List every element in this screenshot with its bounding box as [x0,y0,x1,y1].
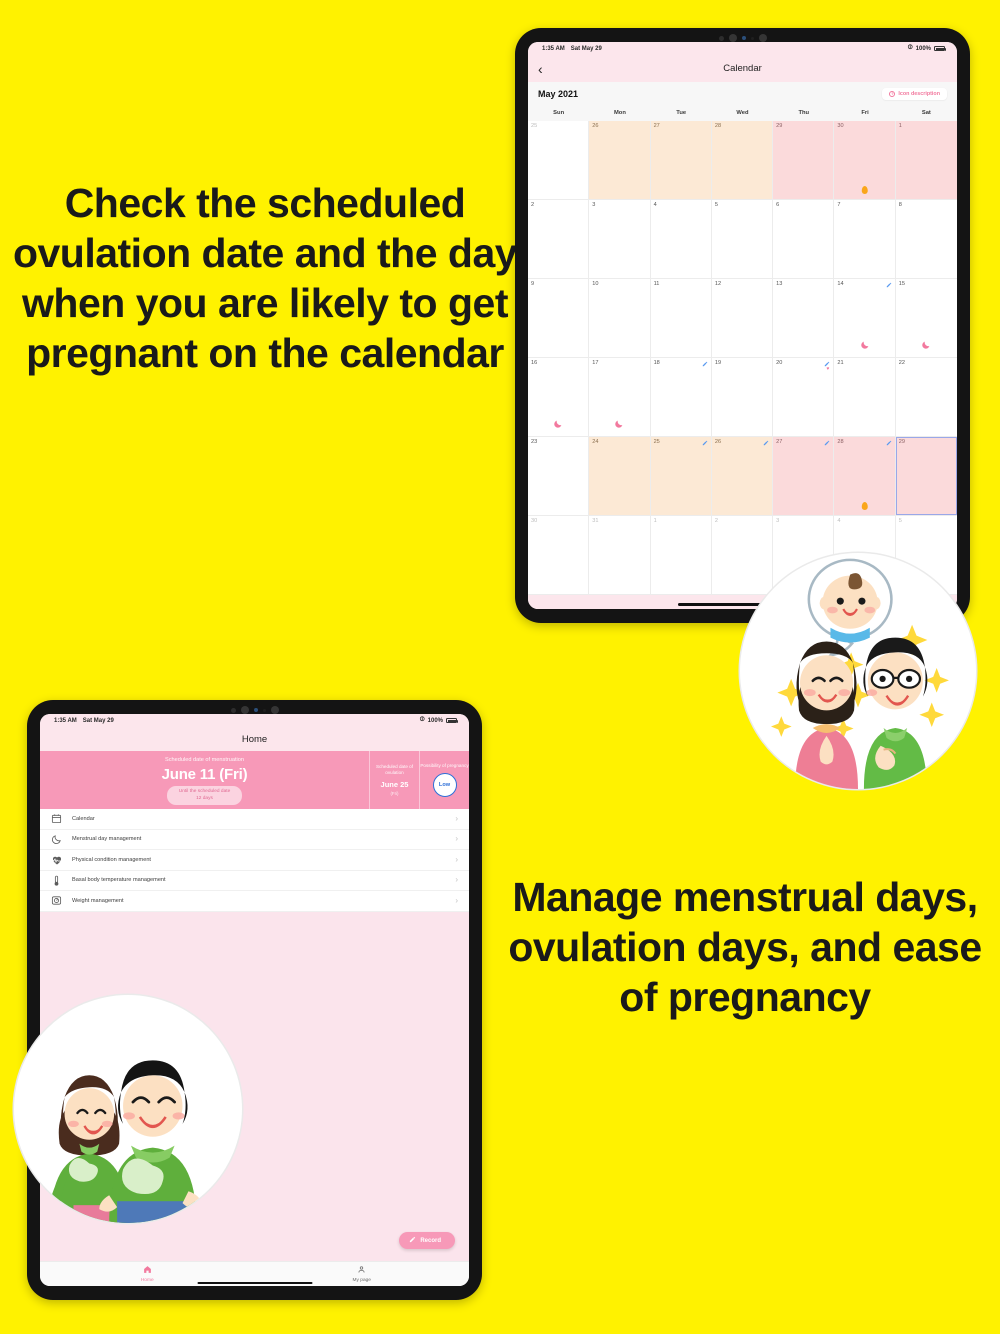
dow-sun: Sun [528,106,589,121]
calendar-day-number: 16 [531,360,537,366]
pencil-icon [702,440,708,446]
calendar-day-cell[interactable]: 19 [712,358,773,437]
calendar-title: Calendar [528,63,957,74]
calendar-day-cell[interactable]: 29 [896,437,957,516]
calendar-day-number: 29 [899,439,905,445]
calendar-day-cell[interactable]: 25 [651,437,712,516]
calendar-day-number: 25 [654,439,660,445]
calendar-day-number: 21 [837,360,843,366]
calendar-day-number: 2 [531,202,534,208]
calendar-day-number: 20 [776,360,782,366]
home-title: Home [242,734,267,745]
pencil-icon [824,440,830,446]
status-battery-percent: 100% [428,718,443,724]
tablet-device-calendar: 1:35 AM Sat May 29 ⏼ 100% ‹ Calendar May… [515,28,970,623]
dow-tue: Tue [651,106,712,121]
hero-pregnancy-block: Possibility of pregnancy Low [419,751,469,809]
calendar-day-cell[interactable]: 27 [651,121,712,200]
calendar-day-number: 26 [592,123,598,129]
calendar-day-number: 7 [837,202,840,208]
headline-top: Check the scheduled ovulation date and t… [10,178,520,378]
calendar-day-cell[interactable]: 22 [896,358,957,437]
status-bar: 1:35 AM Sat May 29 ⏼ 100% [40,714,469,727]
calendar-day-cell[interactable]: 29 [773,121,834,200]
calendar-day-number: 22 [899,360,905,366]
front-camera-cluster [719,34,767,42]
calendar-day-cell[interactable]: 2 [712,516,773,595]
calendar-day-cell[interactable]: 26 [712,437,773,516]
dow-thu: Thu [773,106,834,121]
calendar-day-cell[interactable]: 1 [651,516,712,595]
calendar-day-number: 24 [592,439,598,445]
battery-icon [934,46,945,52]
calendar-day-cell[interactable]: 28 [712,121,773,200]
calendar-day-number: 30 [531,518,537,524]
status-time: 1:35 AM [54,718,77,724]
calendar-day-number: 31 [592,518,598,524]
calendar-day-cell[interactable]: 1 [896,121,957,200]
moon-icon [50,833,63,846]
calendar-day-number: 3 [776,518,779,524]
couple-dreaming-of-baby-illustration [740,553,976,789]
menu-item-label: Menstrual day management [72,836,141,842]
calendar-day-number: 4 [837,518,840,524]
calendar-day-number: 2 [715,518,718,524]
calendar-day-cell[interactable]: 13 [773,279,834,358]
calendar-day-number: 3 [592,202,595,208]
calendar-day-number: 23 [531,439,537,445]
calendar-day-cell[interactable]: 12 [712,279,773,358]
home-icon [143,1265,152,1276]
countdown-line1: Until the scheduled date [179,789,230,796]
hero-banner: Scheduled date of menstruation June 11 (… [40,751,469,809]
tab-home-label: Home [141,1278,154,1283]
calendar-day-number: 17 [592,360,598,366]
dow-fri: Fri [834,106,895,121]
pencil-icon [886,282,892,288]
calendar-day-number: 19 [715,360,721,366]
calendar-day-cell[interactable]: 30 [528,516,589,595]
hero-menstruation-block: Scheduled date of menstruation June 11 (… [40,751,369,809]
calendar-day-cell[interactable]: 6 [773,200,834,279]
calendar-day-number: 10 [592,281,598,287]
person-icon [357,1265,366,1276]
bottom-tab-bar: Home My page [40,1261,469,1286]
home-indicator[interactable] [197,1282,312,1285]
moon-icon [860,340,870,353]
tab-my-page-label: My page [353,1278,371,1283]
hero-ovulation-block: Scheduled date of ovulation June 25 (Fri… [369,751,419,809]
calendar-day-number: 6 [776,202,779,208]
wifi-icon: ⏼ [908,45,913,52]
chevron-right-icon: › [455,835,458,843]
menu-item-basal-body-temperature-management[interactable]: Basal body temperature management› [40,871,469,892]
calendar-day-cell[interactable]: 10 [589,279,650,358]
chevron-right-icon: › [455,856,458,864]
calendar-day-cell[interactable]: 31 [589,516,650,595]
ovulation-egg-icon [861,186,868,195]
calendar-grid: 2526272829301234567891011121314151617181… [528,121,957,595]
calendar-day-cell[interactable]: 7 [834,200,895,279]
calendar-day-number: 1 [899,123,902,129]
calendar-day-cell[interactable]: 23 [528,437,589,516]
calendar-day-number: 1 [654,518,657,524]
month-label: May 2021 [538,89,578,99]
calendar-day-cell[interactable]: 21 [834,358,895,437]
ovulation-egg-icon [861,502,868,511]
calendar-day-number: 5 [715,202,718,208]
calendar-day-number: 12 [715,281,721,287]
calendar-day-number: 13 [776,281,782,287]
home-navbar: Home [40,727,469,751]
calendar-day-number: 9 [531,281,534,287]
ovulation-label: Scheduled date of ovulation [370,764,419,776]
calendar-day-cell[interactable]: 26 [589,121,650,200]
calendar-day-number: 4 [654,202,657,208]
calendar-day-cell[interactable]: 30 [834,121,895,200]
calendar-day-number: 5 [899,518,902,524]
calendar-day-cell[interactable]: 9 [528,279,589,358]
moon-icon [921,340,931,353]
calendar-day-number: 26 [715,439,721,445]
menu-item-physical-condition-management[interactable]: Physical condition management› [40,850,469,871]
calendar-day-number: 29 [776,123,782,129]
calendar-day-cell[interactable]: 17 [589,358,650,437]
calendar-day-cell[interactable]: 5 [712,200,773,279]
chevron-right-icon: › [455,897,458,905]
pencil-icon [702,361,708,367]
status-battery-percent: 100% [916,46,931,52]
pencil-icon [409,1236,416,1245]
calendar-day-cell[interactable]: 14 [834,279,895,358]
status-bar: 1:35 AM Sat May 29 ⏼ 100% [528,42,957,55]
calendar-day-cell[interactable]: 3 [589,200,650,279]
battery-icon [446,718,457,724]
calendar-day-cell[interactable]: 25 [528,121,589,200]
calendar-day-cell[interactable]: 4 [651,200,712,279]
calendar-day-cell[interactable]: 16 [528,358,589,437]
menu-item-label: Weight management [72,898,124,904]
countdown-pill: Until the scheduled date 12 days [167,786,242,805]
calendar-day-number: 30 [837,123,843,129]
calendar-day-number: 14 [837,281,843,287]
dow-sat: Sat [896,106,957,121]
calendar-day-cell[interactable]: 24 [589,437,650,516]
calendar-day-cell[interactable]: 18 [651,358,712,437]
calendar-day-number: 27 [654,123,660,129]
calendar-day-cell[interactable]: 20♥ [773,358,834,437]
menu-item-menstrual-day-management[interactable]: Menstrual day management› [40,830,469,851]
day-of-week-header: Sun Mon Tue Wed Thu Fri Sat [528,106,957,121]
menu-item-calendar[interactable]: Calendar› [40,809,469,830]
calendar-day-number: 8 [899,202,902,208]
record-label: Record [420,1238,441,1244]
calendar-day-cell[interactable]: 2 [528,200,589,279]
calendar-day-cell[interactable]: 15 [896,279,957,358]
pencil-icon [763,440,769,446]
menstruation-date: June 11 (Fri) [162,766,248,783]
menu-item-label: Physical condition management [72,857,151,863]
calendar-day-cell[interactable]: 8 [896,200,957,279]
calendar-day-number: 27 [776,439,782,445]
heart-icon: ♥ [826,367,829,372]
icon-description-button[interactable]: ? Icon description [882,88,947,100]
calendar-navbar: ‹ Calendar [528,55,957,82]
pregnancy-possibility-badge: Low [433,773,457,797]
record-button[interactable]: Record [399,1232,455,1249]
ovulation-date: June 25 [381,780,409,789]
status-date: Sat May 29 [83,718,114,724]
headline-bottom: Manage menstrual days, ovulation days, a… [500,872,990,1022]
calendar-day-number: 28 [837,439,843,445]
wifi-icon: ⏼ [420,717,425,724]
dow-wed: Wed [712,106,773,121]
calendar-day-number: 25 [531,123,537,129]
status-time: 1:35 AM [542,46,565,52]
happy-couple-illustration [14,995,242,1223]
calendar-icon [50,812,63,825]
back-chevron-left-icon[interactable]: ‹ [538,62,543,76]
ovulation-weekday: (Fri) [390,791,398,796]
calendar-day-cell[interactable]: 11 [651,279,712,358]
heartbeat-icon [50,853,63,866]
chevron-right-icon: › [455,815,458,823]
menu-item-weight-management[interactable]: Weight management› [40,891,469,912]
calendar-day-cell[interactable]: 27 [773,437,834,516]
chevron-right-icon: › [455,876,458,884]
calendar-day-number: 15 [899,281,905,287]
calendar-day-number: 11 [654,281,660,287]
status-date: Sat May 29 [571,46,602,52]
dow-mon: Mon [589,106,650,121]
front-camera-cluster [231,706,279,714]
home-menu-list: Calendar›Menstrual day management›Physic… [40,809,469,912]
icon-description-label: Icon description [898,91,940,97]
calendar-day-cell[interactable]: 28 [834,437,895,516]
menu-item-label: Calendar [72,816,95,822]
menu-item-label: Basal body temperature management [72,877,166,883]
menstruation-label: Scheduled date of menstruation [165,757,244,763]
countdown-line2: 12 days [179,796,230,803]
calendar-day-number: 18 [654,360,660,366]
thermometer-icon [50,874,63,887]
calendar-month-header: May 2021 ? Icon description [528,82,957,106]
pregnancy-label: Possibility of pregnancy [420,763,468,769]
scale-icon [50,894,63,907]
moon-icon [614,419,624,432]
calendar-day-number: 28 [715,123,721,129]
question-circle-icon: ? [889,91,895,97]
calendar-screen: 1:35 AM Sat May 29 ⏼ 100% ‹ Calendar May… [528,42,957,609]
pencil-icon [886,440,892,446]
moon-icon [553,419,563,432]
